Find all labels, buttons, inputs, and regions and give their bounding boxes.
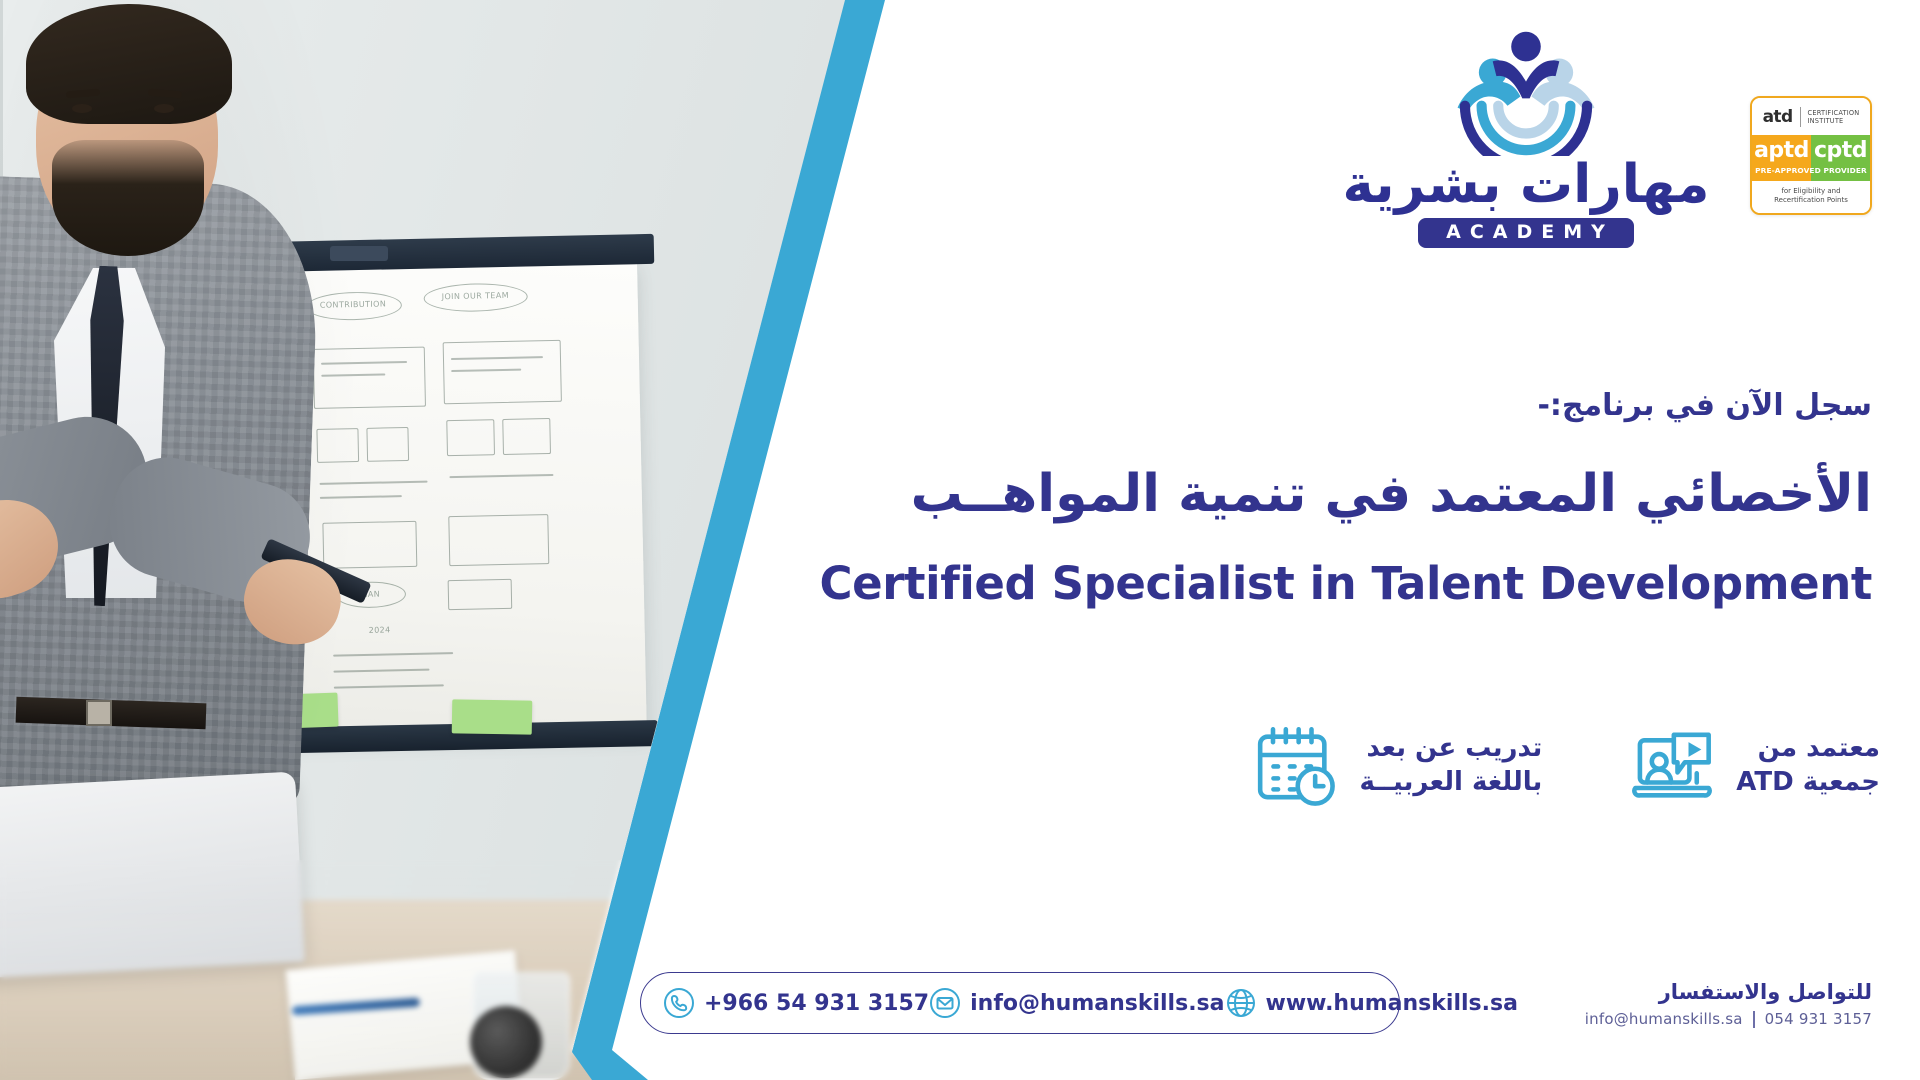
content-panel: atd CERTIFICATION INSTITUTE aptd cptd bbox=[880, 0, 1920, 1080]
atd-footer-text: for Eligibility and Recertification Poin… bbox=[1752, 181, 1870, 213]
feature-atd-label: معتمد من جمعية ATD bbox=[1736, 732, 1880, 800]
atd-accreditation-badge: atd CERTIFICATION INSTITUTE aptd cptd bbox=[1750, 96, 1872, 215]
presenter-eye bbox=[154, 104, 174, 113]
atd-badge-header: atd CERTIFICATION INSTITUTE bbox=[1752, 98, 1870, 135]
foreground-blur bbox=[0, 860, 880, 1080]
presenter-beard bbox=[52, 140, 204, 256]
academy-badge-label: ACADEMY bbox=[1418, 218, 1634, 248]
presenter-eye bbox=[72, 104, 92, 113]
program-title-english: Certified Specialist in Talent Developme… bbox=[820, 560, 1872, 607]
cptd-code: cptd bbox=[1811, 140, 1870, 162]
atd-badge-footer: for Eligibility and Recertification Poin… bbox=[1752, 181, 1870, 213]
program-title-arabic: الأخصائي المعتمد في تنمية المواهــب bbox=[911, 466, 1872, 522]
features-row: معتمد من جمعية ATD تدريب عن بعد بال bbox=[1251, 722, 1880, 810]
atd-footer-line2: Recertification Points bbox=[1774, 196, 1848, 204]
atd-divider bbox=[1800, 107, 1801, 127]
photo-stage: CONTRIBUTION JOIN OUR TEAM HUMAN bbox=[0, 0, 880, 1080]
atd-logo-text: atd bbox=[1763, 109, 1793, 126]
feature-atd-line1: معتمد من bbox=[1758, 733, 1880, 763]
atd-ribbon-text: PRE-APPROVED PROVIDER bbox=[1752, 166, 1870, 181]
brand-row: atd CERTIFICATION INSTITUTE aptd cptd bbox=[1376, 24, 1872, 248]
phone-icon bbox=[663, 987, 695, 1019]
atd-codes-row: aptd cptd bbox=[1752, 135, 1870, 164]
register-kicker: سجل الآن في برنامج:- bbox=[1537, 388, 1872, 423]
feature-atd-accredited: معتمد من جمعية ATD bbox=[1628, 722, 1880, 810]
aptd-code: aptd bbox=[1752, 140, 1811, 162]
atd-subtitle-line2: INSTITUTE bbox=[1808, 117, 1844, 125]
atd-institute-label: CERTIFICATION INSTITUTE bbox=[1808, 109, 1860, 125]
presenter-belt-buckle bbox=[86, 700, 112, 726]
calendar-clock-icon bbox=[1251, 722, 1339, 810]
contact-email[interactable]: info@humanskills.sa bbox=[929, 987, 1224, 1019]
footer-contact-phone[interactable]: 054 931 3157 bbox=[1765, 1010, 1872, 1028]
promo-poster: CONTRIBUTION JOIN OUR TEAM HUMAN bbox=[0, 0, 1920, 1080]
aptd-block: aptd bbox=[1752, 135, 1811, 164]
footer-contact: للتواصل والاستفسار info@humanskills.sa 0… bbox=[1585, 978, 1872, 1028]
footer-contact-email[interactable]: info@humanskills.sa bbox=[1585, 1010, 1743, 1028]
presenter-photo: CONTRIBUTION JOIN OUR TEAM HUMAN bbox=[0, 0, 880, 1080]
academy-logo-lockup: مهارات بشرية ACADEMY bbox=[1376, 24, 1676, 248]
feature-remote-line1: تدريب عن بعد bbox=[1367, 733, 1543, 763]
globe-icon bbox=[1225, 987, 1257, 1019]
contact-email-text: info@humanskills.sa bbox=[970, 991, 1224, 1016]
cptd-block: cptd bbox=[1811, 135, 1870, 164]
atd-footer-line1: for Eligibility and bbox=[1781, 187, 1840, 195]
three-people-arcs-logo-icon bbox=[1452, 24, 1600, 156]
footer-contact-details: info@humanskills.sa 054 931 3157 bbox=[1585, 1010, 1872, 1028]
laptop-video-presentation-icon bbox=[1628, 722, 1716, 810]
sticky-note bbox=[452, 699, 533, 734]
feature-remote-line2: باللغة العربيــة bbox=[1359, 767, 1542, 797]
feature-remote-label: تدريب عن بعد باللغة العربيــة bbox=[1359, 732, 1542, 800]
presenter-hair bbox=[26, 4, 232, 124]
contact-website-text: www.humanskills.sa bbox=[1266, 991, 1518, 1016]
feature-remote-arabic-training: تدريب عن بعد باللغة العربيــة bbox=[1251, 722, 1542, 810]
contact-website[interactable]: www.humanskills.sa bbox=[1225, 987, 1518, 1019]
email-icon bbox=[929, 987, 961, 1019]
atd-subtitle-line1: CERTIFICATION bbox=[1808, 109, 1860, 117]
contact-phone-text: +966 54 931 3157 bbox=[704, 991, 929, 1016]
contact-phone[interactable]: +966 54 931 3157 bbox=[663, 987, 929, 1019]
footer-contact-title: للتواصل والاستفسار bbox=[1585, 978, 1872, 1006]
contact-pill: +966 54 931 3157 info@humanskills.sa bbox=[640, 972, 1400, 1034]
academy-logo-arabic-name: مهارات بشرية bbox=[1343, 158, 1710, 211]
feature-atd-line2: جمعية ATD bbox=[1736, 767, 1880, 797]
footer-contact-separator bbox=[1753, 1011, 1755, 1028]
